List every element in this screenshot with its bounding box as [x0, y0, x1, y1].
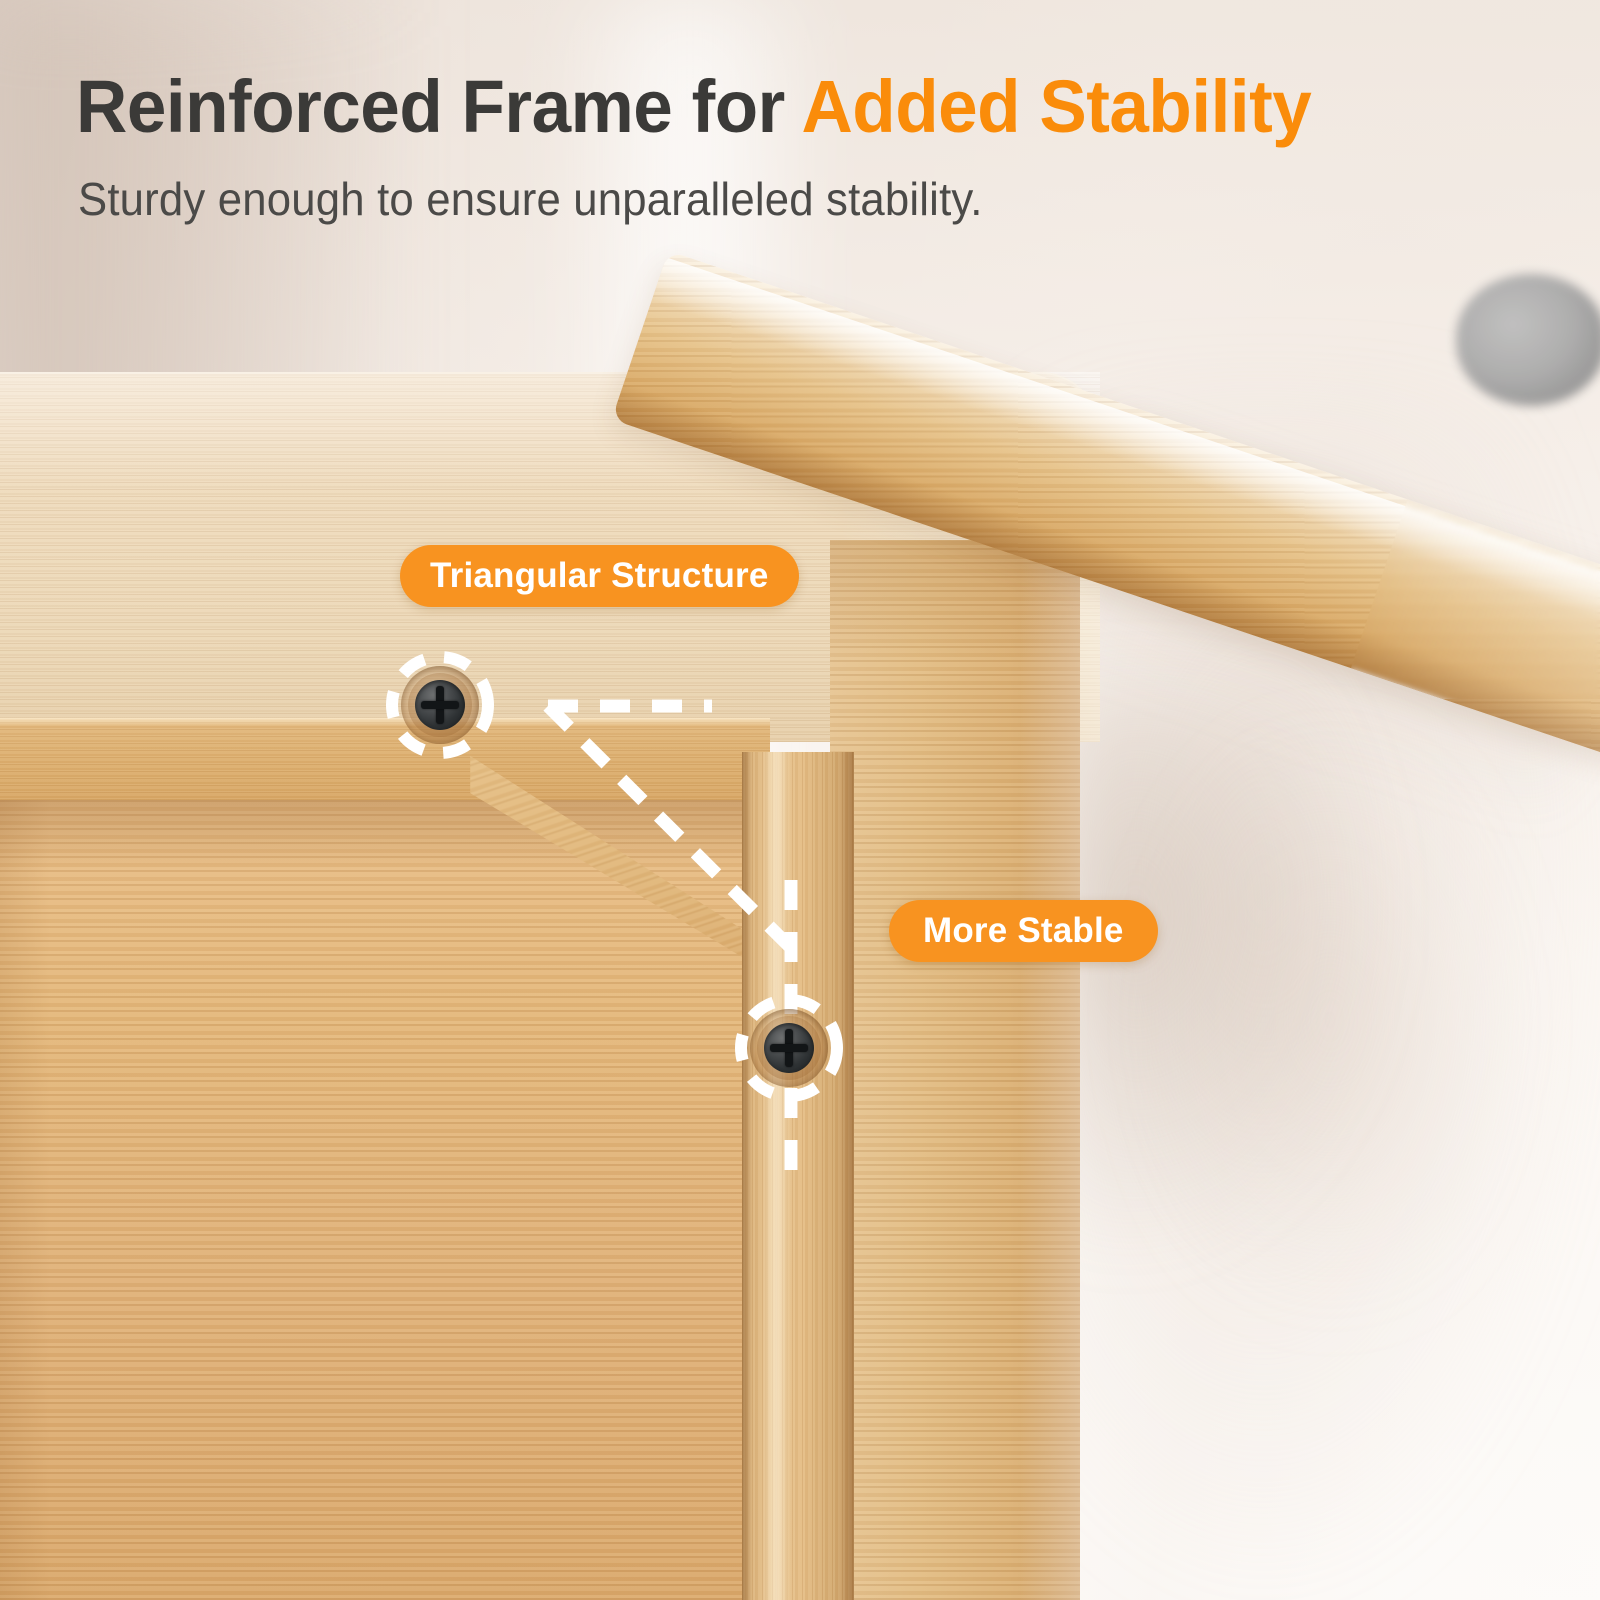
badge-triangular-label: Triangular Structure	[430, 556, 769, 596]
cast-shadow-under-tabletop	[1060, 690, 1380, 1250]
table-side-panel	[830, 540, 1080, 1600]
side-panel-edge-fade	[1020, 540, 1080, 1600]
vertical-leg-left-edge	[742, 752, 752, 1600]
subheadline: Sturdy enough to ensure unparalleled sta…	[78, 172, 983, 226]
screw-cross-horizontal-2	[770, 1044, 808, 1052]
vertical-leg-post	[742, 752, 854, 1600]
headline: Reinforced Frame for Added Stability	[76, 70, 1311, 144]
vertical-leg-highlight	[762, 752, 791, 1600]
felt-foot-pad	[1456, 274, 1600, 406]
screw-cross-horizontal-1	[421, 701, 459, 709]
back-panel-left-shadow	[0, 800, 50, 1600]
vertical-leg-grain	[742, 752, 854, 1600]
headline-accent-text: Added Stability	[801, 65, 1311, 148]
badge-more-stable[interactable]: More Stable	[889, 900, 1158, 962]
badge-stable-label: More Stable	[923, 911, 1124, 951]
screw-head-1	[415, 680, 465, 730]
product-feature-image: Triangular Structure More Stable Reinfor…	[0, 0, 1600, 1600]
back-panel-grain	[0, 800, 770, 1600]
screw-head-2	[764, 1023, 814, 1073]
vertical-leg-right-edge	[840, 752, 854, 1600]
badge-triangular-structure[interactable]: Triangular Structure	[400, 545, 799, 607]
apron-top-edge-highlight	[0, 718, 770, 726]
headline-dark-text: Reinforced Frame for	[76, 65, 801, 148]
back-panel-top-shadow	[0, 800, 770, 870]
table-back-panel	[0, 800, 770, 1600]
